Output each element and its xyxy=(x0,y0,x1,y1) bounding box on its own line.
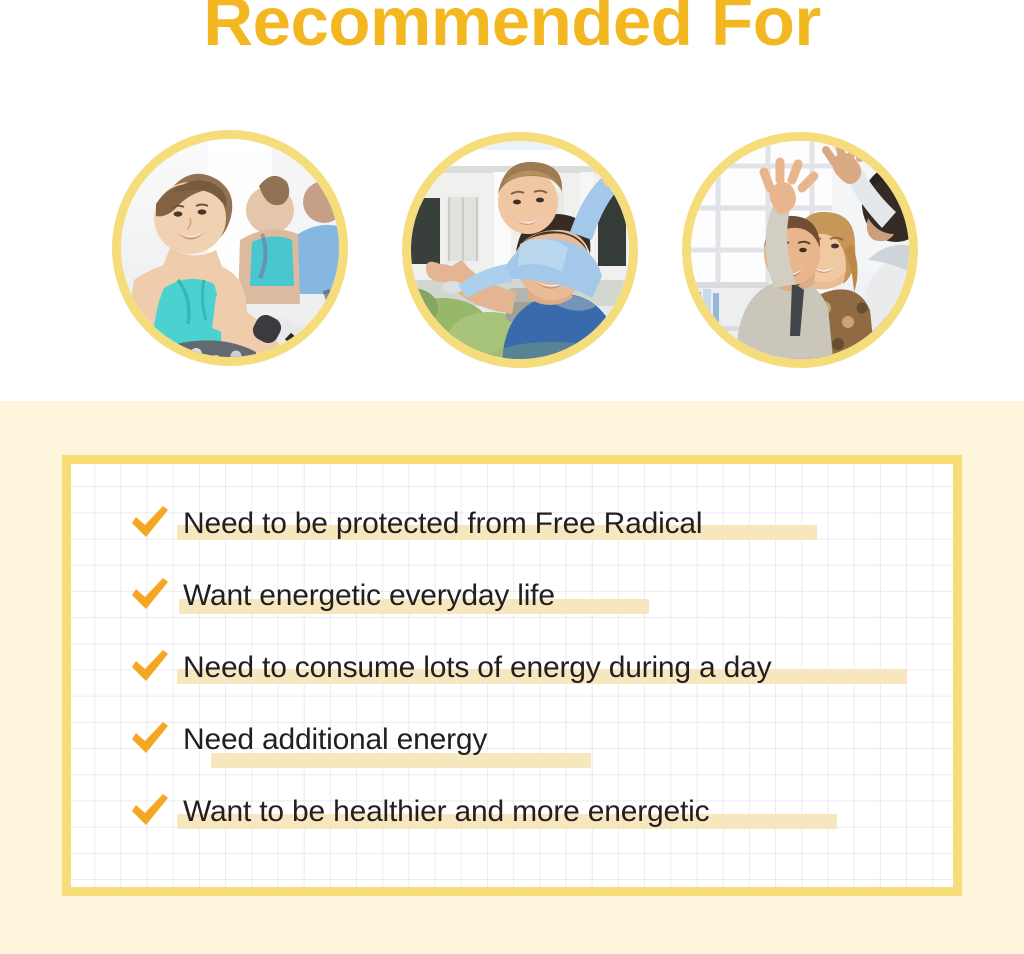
list-item-label: Want energetic everyday life xyxy=(183,579,555,612)
check-icon xyxy=(129,501,171,543)
photo-father-and-son xyxy=(402,132,638,368)
checklist: Need to be protected from Free Radical W… xyxy=(71,464,953,887)
list-item-label: Need additional energy xyxy=(183,723,487,756)
list-item-label: Need to consume lots of energy during a … xyxy=(183,651,771,684)
photo-gym-cycling-image xyxy=(112,130,348,366)
list-item-text-wrap: Want energetic everyday life xyxy=(183,581,555,611)
list-item[interactable]: Need to be protected from Free Radical xyxy=(129,502,702,546)
page-title: Recommended For xyxy=(0,0,1024,58)
list-item-text-wrap: Need additional energy xyxy=(183,725,487,755)
lower-section: Need to be protected from Free Radical W… xyxy=(0,401,1024,954)
hero-section: Recommended For xyxy=(0,0,1024,401)
list-item[interactable]: Need to consume lots of energy during a … xyxy=(129,646,771,690)
check-icon xyxy=(129,789,171,831)
list-item[interactable]: Need additional energy xyxy=(129,718,487,762)
list-item-label: Need to be protected from Free Radical xyxy=(183,507,702,540)
list-item[interactable]: Want energetic everyday life xyxy=(129,574,555,618)
check-icon xyxy=(129,573,171,615)
checklist-card: Need to be protected from Free Radical W… xyxy=(62,455,962,896)
photo-office-high-five-image xyxy=(682,132,918,368)
list-item-label: Want to be healthier and more energetic xyxy=(183,795,709,828)
check-icon xyxy=(129,645,171,687)
list-item-text-wrap: Need to be protected from Free Radical xyxy=(183,509,702,539)
photo-row xyxy=(0,130,1024,370)
check-icon xyxy=(129,717,171,759)
list-item-text-wrap: Want to be healthier and more energetic xyxy=(183,797,709,827)
photo-office-high-five xyxy=(682,132,918,368)
photo-gym-cycling xyxy=(112,130,348,366)
photo-father-and-son-image xyxy=(402,132,638,368)
list-item[interactable]: Want to be healthier and more energetic xyxy=(129,790,709,834)
list-item-text-wrap: Need to consume lots of energy during a … xyxy=(183,653,771,683)
